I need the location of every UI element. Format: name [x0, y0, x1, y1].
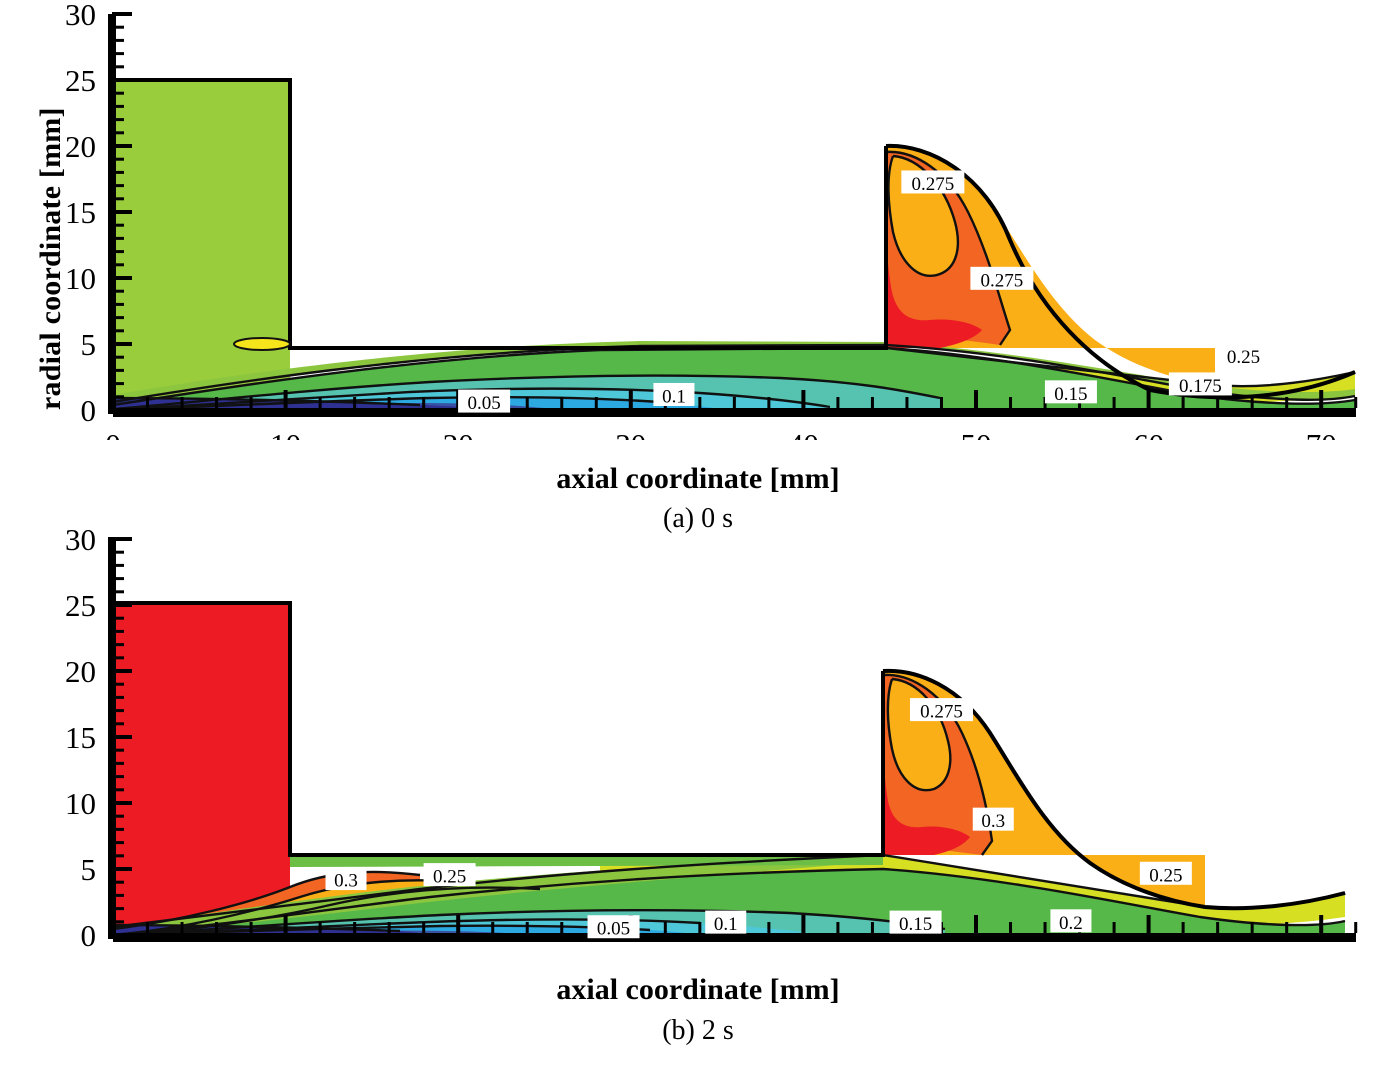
panel-a-x-axis-label: axial coordinate [mm]	[0, 462, 1396, 496]
region-inlet-block-a	[113, 80, 290, 410]
panel-a-corner-marker	[234, 338, 290, 350]
contour-label: 0.3	[981, 811, 1005, 832]
y-tick-label: 0	[81, 393, 97, 428]
contour-label: 0.25	[433, 867, 466, 888]
x-tick-label: 10	[270, 427, 301, 440]
y-tick-label: 15	[65, 195, 96, 230]
x-tick-label: 40	[788, 427, 819, 440]
x-tick-label: 50	[961, 427, 992, 440]
panel-b-plot: 010203040506070051015202530 0.30.250.050…	[0, 525, 1396, 950]
x-tick-label: 60	[1133, 427, 1164, 440]
contour-label: 0.15	[899, 914, 932, 935]
x-tick-label: 20	[443, 427, 474, 440]
x-tick-label: 30	[615, 427, 646, 440]
y-tick-label: 30	[65, 0, 96, 32]
contour-label: 0.05	[467, 393, 500, 414]
panel-a-y-axis-label: radial coordinate [mm]	[34, 107, 68, 410]
y-tick-label: 5	[81, 327, 97, 362]
contour-label: 0.2	[1059, 913, 1083, 934]
panel-a-plot: 010203040506070051015202530 0.050.10.150…	[0, 0, 1396, 440]
contour-label: 0.25	[1149, 865, 1182, 886]
contour-label: 0.25	[1227, 347, 1260, 368]
y-tick-label: 15	[65, 720, 96, 755]
y-tick-label: 25	[65, 63, 96, 98]
region-inlet-block-b	[113, 603, 290, 935]
contour-label: 0.05	[597, 919, 630, 940]
y-tick-label: 10	[65, 261, 96, 296]
contour-figure: radial coordinate [mm]	[0, 0, 1396, 1073]
contour-label: 0.1	[662, 386, 686, 407]
panel-b: 010203040506070051015202530 0.30.250.050…	[0, 525, 1396, 1073]
contour-label: 0.1	[714, 914, 738, 935]
x-tick-label: 70	[1306, 427, 1337, 440]
y-tick-label: 5	[81, 852, 97, 887]
contour-label: 0.275	[920, 702, 963, 723]
x-tick-label: 0	[105, 427, 121, 440]
y-tick-label: 20	[65, 654, 96, 689]
contour-label: 0.15	[1054, 384, 1087, 405]
y-tick-label: 10	[65, 786, 96, 821]
y-tick-label: 25	[65, 588, 96, 623]
panel-b-caption: (b) 2 s	[0, 1015, 1396, 1047]
contour-label: 0.175	[1179, 376, 1222, 397]
panel-b-x-axis-label: axial coordinate [mm]	[0, 973, 1396, 1007]
panel-a: radial coordinate [mm]	[0, 0, 1396, 540]
y-tick-label: 0	[81, 918, 97, 950]
contour-label: 0.3	[334, 871, 358, 892]
y-tick-label: 30	[65, 525, 96, 557]
y-tick-label: 20	[65, 129, 96, 164]
panel-a-contour-fills	[113, 80, 1355, 410]
contour-label: 0.275	[981, 270, 1024, 291]
contour-label: 0.275	[911, 174, 954, 195]
